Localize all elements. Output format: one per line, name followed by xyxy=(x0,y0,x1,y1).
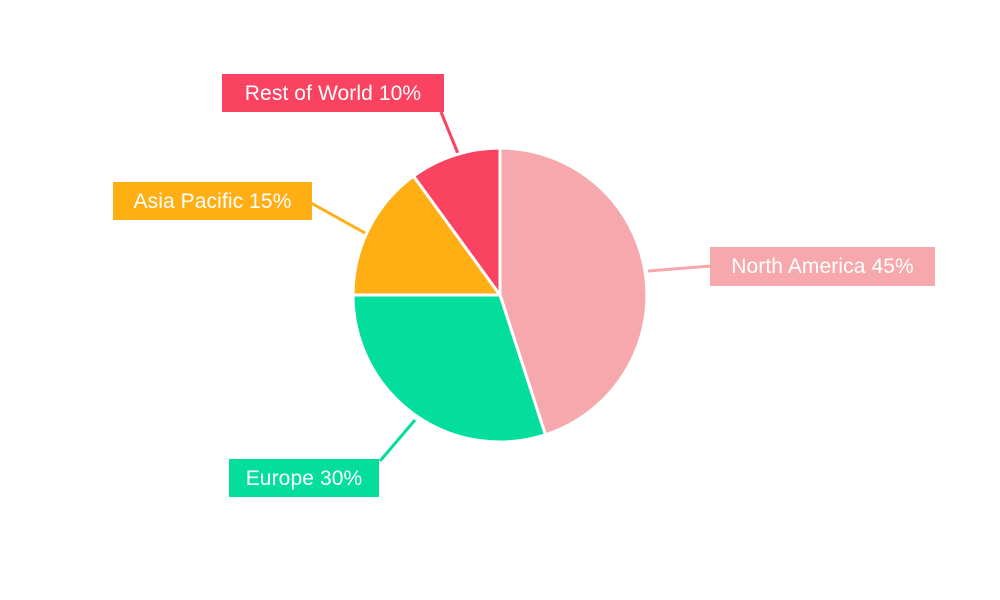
pie-label-rest-of-world-text: Rest of World 10% xyxy=(245,83,421,104)
pie-chart-canvas: Rest of World 10% Asia Pacific 15% North… xyxy=(0,0,1000,600)
pie-label-europe-text: Europe 30% xyxy=(246,468,363,489)
pie-label-europe[interactable]: Europe 30% xyxy=(229,459,379,497)
leader-line-europe xyxy=(380,420,415,461)
leader-line-north-america xyxy=(648,266,711,271)
pie-label-asia-pacific[interactable]: Asia Pacific 15% xyxy=(113,182,312,220)
leader-line-asia-pacific xyxy=(311,203,374,238)
pie-label-north-america[interactable]: North America 45% xyxy=(710,247,935,286)
pie-chart-svg xyxy=(0,0,1000,600)
pie-label-north-america-text: North America 45% xyxy=(731,256,914,277)
pie-label-asia-pacific-text: Asia Pacific 15% xyxy=(133,191,291,212)
pie-label-rest-of-world[interactable]: Rest of World 10% xyxy=(222,74,444,112)
